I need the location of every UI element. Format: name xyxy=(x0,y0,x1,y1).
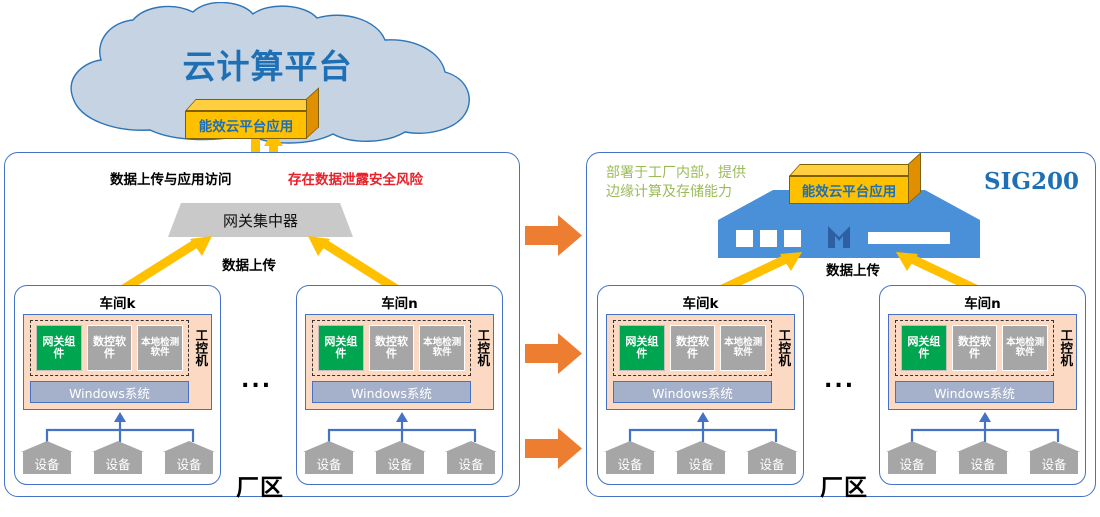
local-detection-software-box[interactable]: 本地检测软件 xyxy=(137,325,183,371)
cnc-software-box[interactable]: 数控软件 xyxy=(952,325,998,371)
sig200-app-label: 能效云平台应用 xyxy=(789,176,909,204)
device-label: 设备 xyxy=(316,454,341,473)
workshop-title: 车间k xyxy=(15,292,220,312)
os-bar: Windows系统 xyxy=(895,381,1054,403)
gateway-concentrator-label: 网关集中器 xyxy=(223,210,298,231)
device-node[interactable]: 设备 xyxy=(957,441,1009,474)
local-detection-software-box[interactable]: 本地检测软件 xyxy=(419,325,465,371)
workshop-device-connector-icon xyxy=(317,412,487,444)
device-label: 设备 xyxy=(105,454,130,473)
workshop-device-connector-icon xyxy=(618,412,788,444)
sig200-app-box[interactable]: 能效云平台应用 xyxy=(789,164,909,204)
gateway-component-label: 网关组件 xyxy=(37,336,81,360)
software-group: 网关组件 数控软件 本地检测软件 xyxy=(30,320,189,376)
industrial-pc-panel: 网关组件 数控软件 本地检测软件 工控机 Windows系统 xyxy=(606,314,795,410)
device-node[interactable]: 设备 xyxy=(604,441,656,474)
left-workshop-k-upload-arrow-icon xyxy=(120,236,220,292)
gateway-component-label: 网关组件 xyxy=(319,336,363,360)
os-bar: Windows系统 xyxy=(312,381,471,403)
device-label: 设备 xyxy=(970,454,995,473)
workshop-title: 车间n xyxy=(297,292,502,312)
gateway-component-box[interactable]: 网关组件 xyxy=(901,325,947,371)
box-top-face xyxy=(789,164,920,176)
local-detection-software-label: 本地检测软件 xyxy=(138,338,182,359)
gateway-component-box[interactable]: 网关组件 xyxy=(318,325,364,371)
device-roof-icon xyxy=(957,441,1009,452)
device-node[interactable]: 设备 xyxy=(92,441,144,474)
cnc-software-box[interactable]: 数控软件 xyxy=(670,325,716,371)
left-workshop-n-upload-arrow-icon xyxy=(300,236,400,292)
cloud-app-label: 能效云平台应用 xyxy=(185,111,307,139)
gateway-component-box[interactable]: 网关组件 xyxy=(36,325,82,371)
device-label: 设备 xyxy=(1041,454,1066,473)
ipc-label: 工控机 xyxy=(1055,319,1075,377)
device-label: 设备 xyxy=(688,454,713,473)
local-detection-software-box[interactable]: 本地检测软件 xyxy=(720,325,766,371)
cnc-software-box[interactable]: 数控软件 xyxy=(87,325,133,371)
device-node[interactable]: 设备 xyxy=(303,441,355,474)
os-label: Windows系统 xyxy=(69,383,150,402)
gateway-component-label: 网关组件 xyxy=(902,336,946,360)
right-data-upload-label: 数据上传 xyxy=(826,259,880,279)
workshop-title: 车间k xyxy=(598,292,803,312)
gateway-concentrator[interactable]: 网关集中器 xyxy=(168,203,353,237)
device-roof-icon xyxy=(675,441,727,452)
device-roof-icon xyxy=(303,441,355,452)
device-node[interactable]: 设备 xyxy=(21,441,73,474)
device-node[interactable]: 设备 xyxy=(445,441,497,474)
ipc-label: 工控机 xyxy=(190,319,210,377)
left-data-upload-label: 数据上传 xyxy=(222,254,276,274)
industrial-pc-panel: 网关组件 数控软件 本地检测软件 工控机 Windows系统 xyxy=(305,314,494,410)
left-workshop-n: 车间n 网关组件 数控软件 本地检测软件 工控机 Windows系统 xyxy=(296,285,503,485)
cnc-software-label: 数控软件 xyxy=(88,336,132,360)
device-label: 设备 xyxy=(387,454,412,473)
device-node[interactable]: 设备 xyxy=(675,441,727,474)
device-roof-icon xyxy=(445,441,497,452)
product-name-label: SIG200 xyxy=(984,168,1079,195)
os-label: Windows系统 xyxy=(934,383,1015,402)
workshop-device-connector-icon xyxy=(35,412,205,444)
transition-arrow-2-icon xyxy=(525,333,583,375)
left-panel-label: 厂区 xyxy=(236,468,284,502)
local-detection-software-label: 本地检测软件 xyxy=(420,338,464,359)
device-label: 设备 xyxy=(458,454,483,473)
right-workshop-n: 车间n 网关组件 数控软件 本地检测软件 工控机 Windows系统 xyxy=(879,285,1086,485)
right-workshops-ellipsis: ... xyxy=(824,370,855,392)
gateway-component-box[interactable]: 网关组件 xyxy=(619,325,665,371)
software-group: 网关组件 数控软件 本地检测软件 xyxy=(312,320,471,376)
software-group: 网关组件 数控软件 本地检测软件 xyxy=(613,320,772,376)
os-label: Windows系统 xyxy=(652,383,733,402)
device-roof-icon xyxy=(21,441,73,452)
device-roof-icon xyxy=(374,441,426,452)
local-detection-software-box[interactable]: 本地检测软件 xyxy=(1002,325,1048,371)
ipc-label: 工控机 xyxy=(472,319,492,377)
upload-access-label: 数据上传与应用访问 xyxy=(110,168,232,188)
os-bar: Windows系统 xyxy=(30,381,189,403)
industrial-pc-panel: 网关组件 数控软件 本地检测软件 工控机 Windows系统 xyxy=(23,314,212,410)
device-node[interactable]: 设备 xyxy=(746,441,798,474)
cnc-software-label: 数控软件 xyxy=(671,336,715,360)
cloud-title: 云计算平台 xyxy=(55,40,480,88)
device-label: 设备 xyxy=(899,454,924,473)
transition-arrow-3-icon xyxy=(525,428,583,470)
cloud-app-box[interactable]: 能效云平台应用 xyxy=(185,99,307,139)
local-detection-software-label: 本地检测软件 xyxy=(721,338,765,359)
left-workshops-ellipsis: ... xyxy=(241,370,272,392)
risk-label: 存在数据泄露安全风险 xyxy=(288,168,423,188)
os-label: Windows系统 xyxy=(351,383,432,402)
cnc-software-label: 数控软件 xyxy=(953,336,997,360)
device-roof-icon xyxy=(92,441,144,452)
device-node[interactable]: 设备 xyxy=(374,441,426,474)
device-node[interactable]: 设备 xyxy=(1028,441,1080,474)
left-workshop-k: 车间k 网关组件 数控软件 本地检测软件 工控机 Windows系统 xyxy=(14,285,221,485)
os-bar: Windows系统 xyxy=(613,381,772,403)
device-label: 设备 xyxy=(759,454,784,473)
diagram-canvas: 云计算平台 能效云平台应用 数据上传与应用访问 存在数据泄露安全风险 网关集中器… xyxy=(0,0,1100,517)
gateway-component-label: 网关组件 xyxy=(620,336,664,360)
workshop-title: 车间n xyxy=(880,292,1085,312)
industrial-pc-panel: 网关组件 数控软件 本地检测软件 工控机 Windows系统 xyxy=(888,314,1077,410)
cnc-software-box[interactable]: 数控软件 xyxy=(369,325,415,371)
transition-arrow-1-icon xyxy=(525,215,583,257)
device-label: 设备 xyxy=(617,454,642,473)
device-roof-icon xyxy=(746,441,798,452)
device-node[interactable]: 设备 xyxy=(163,441,215,474)
software-group: 网关组件 数控软件 本地检测软件 xyxy=(895,320,1054,376)
right-workshop-k: 车间k 网关组件 数控软件 本地检测软件 工控机 Windows系统 xyxy=(597,285,804,485)
device-roof-icon xyxy=(163,441,215,452)
ipc-label: 工控机 xyxy=(773,319,793,377)
workshop-device-connector-icon xyxy=(900,412,1070,444)
device-roof-icon xyxy=(604,441,656,452)
cnc-software-label: 数控软件 xyxy=(370,336,414,360)
device-roof-icon xyxy=(1028,441,1080,452)
box-top-face xyxy=(185,99,318,111)
device-roof-icon xyxy=(886,441,938,452)
device-node[interactable]: 设备 xyxy=(886,441,938,474)
device-label: 设备 xyxy=(34,454,59,473)
right-panel-label: 厂区 xyxy=(820,468,868,502)
local-detection-software-label: 本地检测软件 xyxy=(1003,338,1047,359)
device-label: 设备 xyxy=(176,454,201,473)
